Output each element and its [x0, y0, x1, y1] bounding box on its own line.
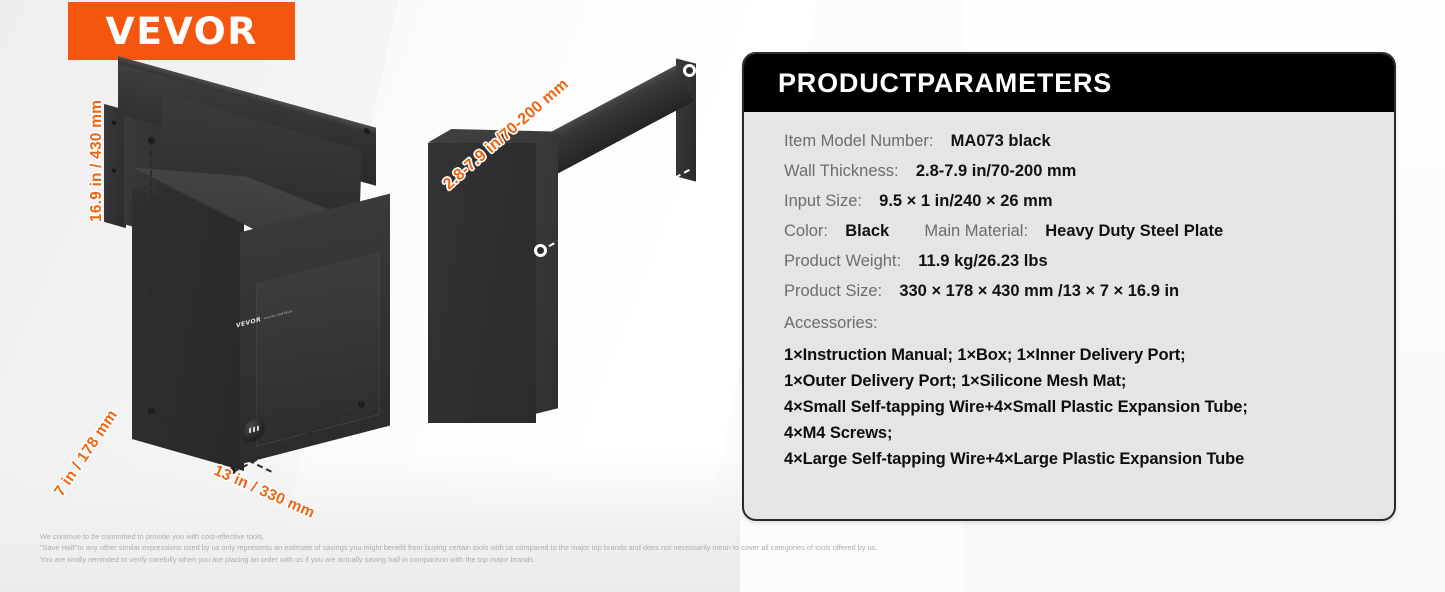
- panel-title: PRODUCTPARAMETERS: [778, 68, 1112, 99]
- spec-label-size: Product Size:: [784, 282, 882, 300]
- spec-row-wall-thickness: Wall Thickness: 2.8-7.9 in/70-200 mm: [784, 156, 1394, 186]
- wall-thickness-endpoint-near: [534, 244, 547, 257]
- spec-value-size: 330 × 178 × 430 mm /13 × 7 × 16.9 in: [899, 282, 1179, 300]
- disclaimer-line-1: We continue to be committed to provide y…: [40, 531, 1130, 542]
- spec-row-weight: Product Weight: 11.9 kg/26.23 lbs: [784, 246, 1394, 276]
- accessories-title: Accessories:: [784, 306, 1394, 340]
- spec-label-input-size: Input Size:: [784, 192, 862, 210]
- panel-header: PRODUCTPARAMETERS: [744, 54, 1394, 112]
- disclaimer: We continue to be committed to provide y…: [40, 531, 1130, 565]
- spec-value-color: Black: [845, 222, 889, 240]
- vevor-logo-text: VEVOR: [105, 10, 257, 53]
- product-front-view: VEVOR Drop Box Wall Mount: [100, 85, 400, 425]
- product-parameters-panel: PRODUCTPARAMETERS Item Model Number: MA0…: [742, 52, 1396, 521]
- height-endpoint-top: [148, 137, 155, 144]
- spec-label-material: Main Material:: [924, 222, 1028, 240]
- dimension-label-height: 16.9 in / 430 mm: [88, 100, 106, 222]
- spec-row-color-material: Color: Black Main Material: Heavy Duty S…: [784, 216, 1394, 246]
- wall-thickness-endpoint-far: [683, 64, 696, 77]
- accessory-line: 1×Outer Delivery Port; 1×Silicone Mesh M…: [784, 368, 1394, 394]
- spec-row-size: Product Size: 330 × 178 × 430 mm /13 × 7…: [784, 276, 1394, 306]
- box-door: [256, 251, 380, 447]
- accessory-line: 4×Large Self-tapping Wire+4×Large Plasti…: [784, 446, 1394, 472]
- background-floor: [0, 452, 740, 592]
- product-infographic: VEVOR VEVOR Drop Box Wall Mount: [0, 0, 1445, 592]
- spec-row-model: Item Model Number: MA073 black: [784, 126, 1394, 156]
- accessory-line: 4×Small Self-tapping Wire+4×Small Plasti…: [784, 394, 1394, 420]
- spec-value-input-size: 9.5 × 1 in/240 × 26 mm: [879, 192, 1052, 210]
- height-leader-line: [150, 141, 152, 415]
- panel-body: Item Model Number: MA073 black Wall Thic…: [744, 112, 1394, 472]
- accessory-line: 4×M4 Screws;: [784, 420, 1394, 446]
- vevor-logo: VEVOR: [68, 2, 295, 60]
- accessories-list: 1×Instruction Manual; 1×Box; 1×Inner Del…: [784, 342, 1394, 472]
- spec-value-weight: 11.9 kg/26.23 lbs: [918, 252, 1047, 270]
- spec-row-input-size: Input Size: 9.5 × 1 in/240 × 26 mm: [784, 186, 1394, 216]
- spec-label-color: Color:: [784, 222, 828, 240]
- spec-label-weight: Product Weight:: [784, 252, 901, 270]
- spec-label-wall-thickness: Wall Thickness:: [784, 162, 899, 180]
- disclaimer-line-2: "Save Half"or any other similar expressi…: [40, 542, 1130, 553]
- spec-value-material: Heavy Duty Steel Plate: [1045, 222, 1223, 240]
- disclaimer-line-3: You are kindly reminded to verify carefu…: [40, 554, 1130, 565]
- spec-label-model: Item Model Number:: [784, 132, 933, 150]
- spec-value-model: MA073 black: [951, 132, 1051, 150]
- spec-value-wall-thickness: 2.8-7.9 in/70-200 mm: [916, 162, 1077, 180]
- box-side-panel: [132, 189, 244, 471]
- side-box-side: [536, 132, 558, 413]
- width-endpoint: [358, 401, 365, 408]
- wall-mount-plate: [104, 104, 126, 228]
- accessory-line: 1×Instruction Manual; 1×Box; 1×Inner Del…: [784, 342, 1394, 368]
- product-side-view: [420, 55, 720, 435]
